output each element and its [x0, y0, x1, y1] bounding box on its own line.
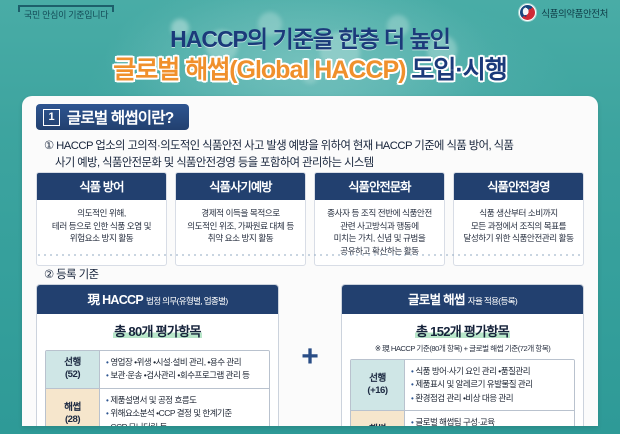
agency-name: 식품의약품안전처	[541, 6, 608, 20]
concept-body-line: 모든 과정에서 조직의 목표를	[471, 221, 566, 231]
panel-total-value: 총 80개 평가항목	[113, 324, 201, 339]
section-title: 글로벌 해썹이란?	[67, 106, 173, 128]
concept-body-line: 종사자 등 조직 전반에 식품안전	[327, 208, 432, 218]
panel-current-haccp: 現 HACCP법정 의무(유형별, 업종별) 총 80개 평가항목 선행 (52…	[36, 284, 279, 426]
section-header: 1 글로벌 해썹이란?	[36, 104, 189, 130]
concept-body-line: 관련 사고방식과 행동에	[340, 221, 418, 231]
concept-title: 식품사기예방	[176, 173, 305, 200]
row-key-count: (52)	[65, 369, 80, 381]
row-value: 영업장 •위생 •시설·설비 관리, •용수 관리 보관·운송 •검사관리 •회…	[100, 351, 269, 388]
plus-symbol: +	[279, 284, 341, 372]
panel-note: ※ 現 HACCP 기준(80개 항목) + 글로벌 해썹 기준(72개 항목)	[342, 343, 583, 359]
concept-title: 식품안전경영	[454, 173, 583, 200]
taegeuk-icon	[519, 4, 536, 21]
dotted-divider	[36, 254, 584, 256]
panel-header: 글로벌 해썹자율 적용(등록)	[342, 285, 583, 314]
section-number: 1	[43, 109, 60, 126]
list-item: CCP 모니터링 등	[106, 421, 263, 426]
list-item: 보관·운송 •검사관리 •회수프로그램 관리 등	[106, 369, 263, 382]
list-item: 글로벌 해썹팀 구성·교육	[411, 416, 568, 426]
concept-title: 식품안전문화	[315, 173, 444, 200]
table-row: 선행 (+16) 식품 방어·사기 요인 관리 •품질관리 제품표시 및 알레르…	[351, 360, 574, 410]
concept-body-line: 의도적인 위해,	[77, 208, 126, 218]
concept-card-food-fraud: 식품사기예방 경제적 이득을 목적으로 의도적인 위조, 가짜원료 대체 등 취…	[175, 172, 306, 266]
row-value: 식품 방어·사기 요인 관리 •품질관리 제품표시 및 알레르기 유발물질 관리…	[405, 360, 574, 410]
panel-header: 現 HACCP법정 의무(유형별, 업종별)	[37, 285, 278, 314]
row-key-label: 선행	[64, 357, 81, 369]
headline-line-2: 글로벌 해썹(Global HACCP) 도입·시행	[0, 50, 620, 86]
list-item: 제품표시 및 알레르기 유발물질 관리	[411, 378, 568, 391]
panel-title: 글로벌 해썹	[408, 293, 465, 307]
criteria-table: 선행 (+16) 식품 방어·사기 요인 관리 •품질관리 제품표시 및 알레르…	[350, 359, 575, 426]
concept-body-line: 테러 등으로 인한 식품 오염 및	[52, 221, 151, 231]
list-item: 제품설명서 및 공정 흐름도	[106, 394, 263, 407]
concept-body-line: 달성하기 위한 식품안전관리 활동	[463, 233, 573, 243]
table-row: 해썹 (+56) 글로벌 해썹팀 구성·교육 글로벌 해썹 관리 전략 식품안전…	[351, 410, 574, 426]
concept-title: 식품 방어	[37, 173, 166, 200]
panel-global-haccp: 글로벌 해썹자율 적용(등록) 총 152개 평가항목 ※ 現 HACCP 기준…	[341, 284, 584, 426]
list-item: 환경점검 관리 •비상 대응 관리	[411, 392, 568, 405]
row-key: 해썹 (28)	[46, 389, 100, 426]
row-key-label: 선행	[369, 373, 386, 385]
panel-spacer	[37, 343, 278, 350]
concept-body-line: 의도적인 위조, 가짜원료 대체 등	[187, 221, 294, 231]
list-item: 영업장 •위생 •시설·설비 관리, •용수 관리	[106, 356, 263, 369]
panel-title: 現 HACCP	[88, 293, 144, 307]
concept-body-line: 미치는 가치, 신념 및 규범을	[334, 233, 426, 243]
concept-card-food-safety-management: 식품안전경영 식품 생산부터 소비까지 모든 과정에서 조직의 목표를 달성하기…	[453, 172, 584, 266]
intro-paragraph: ① HACCP 업소의 고의적·의도적인 식품안전 사고 발생 예방을 위하여 …	[44, 138, 584, 172]
headline-line-1: HACCP의 기준을 한층 더 높인	[0, 20, 620, 54]
intro-line-1: ① HACCP 업소의 고의적·의도적인 식품안전 사고 발생 예방을 위하여 …	[44, 140, 513, 152]
concept-card-list: 식품 방어 의도적인 위해, 테러 등으로 인한 식품 오염 및 위험요소 방지…	[36, 172, 584, 266]
concept-body-line: 위험요소 방지 활동	[70, 233, 134, 243]
row-key-label: 해썹	[369, 424, 386, 426]
row-key-count: (+16)	[367, 385, 387, 397]
table-row: 선행 (52) 영업장 •위생 •시설·설비 관리, •용수 관리 보관·운송 …	[46, 351, 269, 388]
row-key: 선행 (52)	[46, 351, 100, 388]
agency-brand: 식품의약품안전처	[519, 4, 608, 21]
row-key: 해썹 (+56)	[351, 411, 405, 426]
concept-body-line: 식품 생산부터 소비까지	[479, 208, 557, 218]
concept-card-food-safety-culture: 식품안전문화 종사자 등 조직 전반에 식품안전 관련 사고방식과 행동에 미치…	[314, 172, 445, 266]
criteria-table: 선행 (52) 영업장 •위생 •시설·설비 관리, •용수 관리 보관·운송 …	[45, 350, 270, 426]
registration-criteria-label: ② 등록 기준	[44, 266, 98, 282]
row-key-label: 해썹	[64, 402, 81, 414]
row-value: 글로벌 해썹팀 구성·교육 글로벌 해썹 관리 전략 식품안전경영, •식품안전…	[405, 411, 574, 426]
comparison-panels: 現 HACCP법정 의무(유형별, 업종별) 총 80개 평가항목 선행 (52…	[36, 284, 584, 426]
table-row: 해썹 (28) 제품설명서 및 공정 흐름도 위해요소분석 •CCP 결정 및 …	[46, 388, 269, 426]
headline-highlight: 글로벌 해썹(Global HACCP)	[113, 56, 405, 84]
concept-body-line: 경제적 이득을 목적으로	[201, 208, 279, 218]
intro-line-2: 사기 예방, 식품안전문화 및 식품안전경영 등을 포함하여 관리하는 시스템	[44, 155, 584, 172]
list-item: 식품 방어·사기 요인 관리 •품질관리	[411, 365, 568, 378]
panel-total: 총 80개 평가항목	[37, 314, 278, 343]
row-value: 제품설명서 및 공정 흐름도 위해요소분석 •CCP 결정 및 한계기준 CCP…	[100, 389, 269, 426]
concept-body-line: 취약 요소 방지 활동	[208, 233, 273, 243]
headline-suffix: 도입·시행	[405, 56, 506, 84]
row-key: 선행 (+16)	[351, 360, 405, 410]
list-item: 위해요소분석 •CCP 결정 및 한계기준	[106, 407, 263, 420]
poster-root: 국민 안심이 기준입니다 식품의약품안전처 HACCP의 기준을 한층 더 높인…	[0, 0, 620, 434]
concept-card-food-defense: 식품 방어 의도적인 위해, 테러 등으로 인한 식품 오염 및 위험요소 방지…	[36, 172, 167, 266]
panel-total: 총 152개 평가항목	[342, 314, 583, 343]
panel-subtitle: 법정 의무(유형별, 업종별)	[146, 296, 227, 306]
content-card: 1 글로벌 해썹이란? ① HACCP 업소의 고의적·의도적인 식품안전 사고…	[22, 96, 598, 426]
row-key-count: (28)	[65, 414, 80, 426]
panel-total-value: 총 152개 평가항목	[415, 324, 510, 339]
panel-subtitle: 자율 적용(등록)	[468, 296, 517, 306]
